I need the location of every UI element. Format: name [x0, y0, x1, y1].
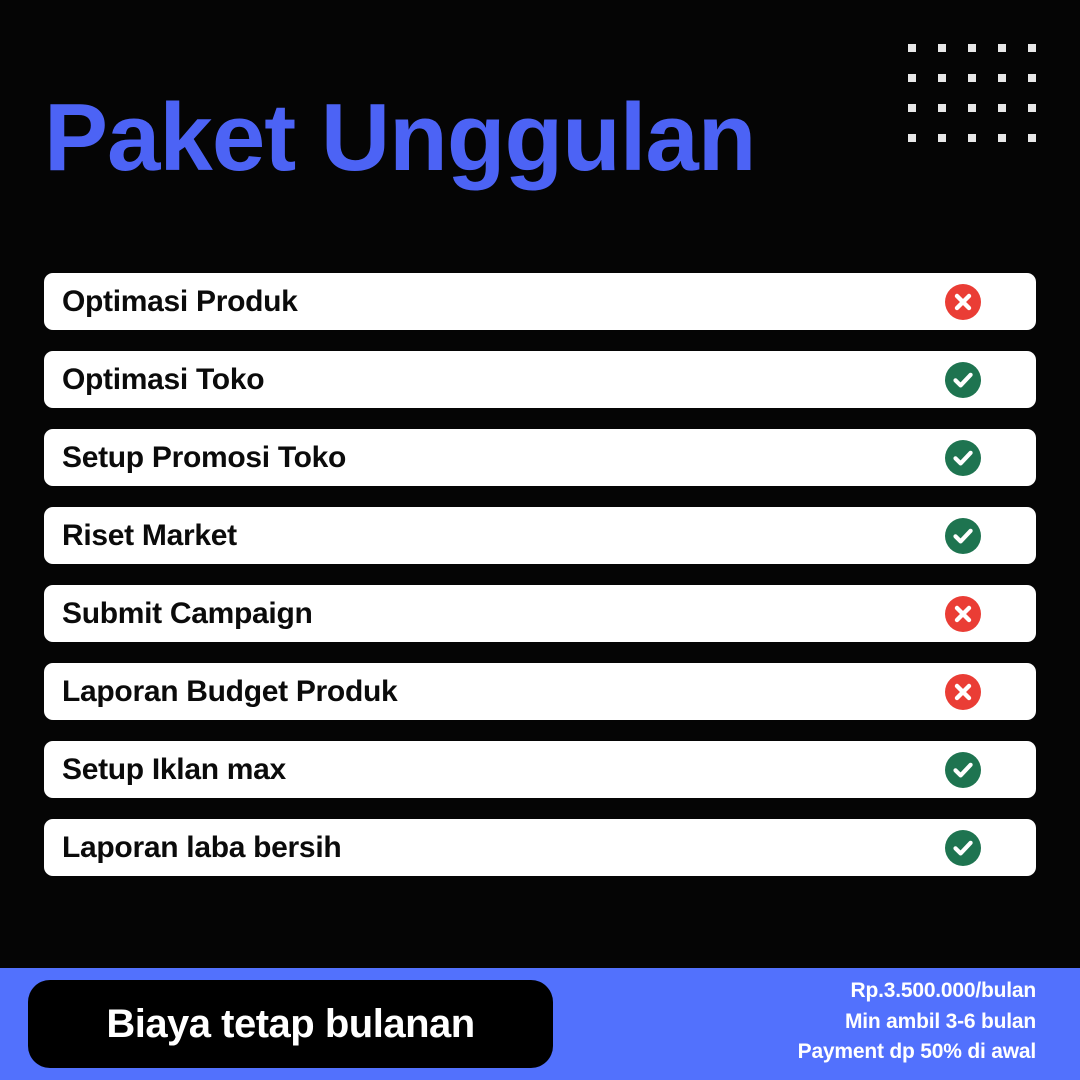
feature-status: [945, 674, 981, 710]
price-line: Rp.3.500.000/bulan: [851, 979, 1036, 1003]
decor-dot: [998, 134, 1006, 142]
circle-check-icon: [945, 440, 981, 476]
circle-x-icon: [945, 596, 981, 632]
decor-dot: [1028, 74, 1036, 82]
feature-row: Setup Promosi Toko: [44, 429, 1036, 486]
feature-status: [945, 518, 981, 554]
feature-status: [945, 830, 981, 866]
feature-label: Optimasi Produk: [62, 287, 298, 317]
decor-dot: [1028, 134, 1036, 142]
decor-dot: [908, 44, 916, 52]
circle-check-icon: [945, 830, 981, 866]
decor-dot: [908, 104, 916, 112]
feature-list: Optimasi ProdukOptimasi TokoSetup Promos…: [44, 273, 1036, 876]
decor-dot: [968, 134, 976, 142]
pricing-poster: Paket Unggulan Optimasi ProdukOptimasi T…: [0, 0, 1080, 1080]
feature-label: Setup Iklan max: [62, 755, 286, 785]
decor-dot: [1028, 104, 1036, 112]
decor-dot: [968, 44, 976, 52]
circle-check-icon: [945, 362, 981, 398]
feature-label: Setup Promosi Toko: [62, 443, 346, 473]
feature-label: Laporan Budget Produk: [62, 677, 397, 707]
decor-dot: [968, 74, 976, 82]
decor-dot: [998, 44, 1006, 52]
monthly-fee-pill: Biaya tetap bulanan: [28, 980, 553, 1068]
decorative-dot-grid: [908, 44, 1036, 142]
circle-x-icon: [945, 674, 981, 710]
price-details: Rp.3.500.000/bulanMin ambil 3-6 bulanPay…: [616, 979, 1036, 1064]
circle-x-icon: [945, 284, 981, 320]
decor-dot: [998, 74, 1006, 82]
page-title: Paket Unggulan: [44, 88, 755, 189]
circle-check-icon: [945, 518, 981, 554]
feature-row: Optimasi Toko: [44, 351, 1036, 408]
decor-dot: [938, 134, 946, 142]
decor-dot: [908, 74, 916, 82]
feature-label: Optimasi Toko: [62, 365, 264, 395]
feature-status: [945, 362, 981, 398]
feature-row: Riset Market: [44, 507, 1036, 564]
decor-dot: [968, 104, 976, 112]
monthly-fee-label: Biaya tetap bulanan: [106, 1004, 474, 1044]
feature-row: Laporan laba bersih: [44, 819, 1036, 876]
price-line: Min ambil 3-6 bulan: [845, 1010, 1036, 1034]
circle-check-icon: [945, 752, 981, 788]
decor-dot: [1028, 44, 1036, 52]
decor-dot: [938, 74, 946, 82]
decor-dot: [938, 104, 946, 112]
feature-status: [945, 596, 981, 632]
decor-dot: [908, 134, 916, 142]
feature-status: [945, 284, 981, 320]
footer-bar: Biaya tetap bulanan Rp.3.500.000/bulanMi…: [0, 968, 1080, 1080]
feature-label: Riset Market: [62, 521, 237, 551]
feature-label: Submit Campaign: [62, 599, 313, 629]
feature-label: Laporan laba bersih: [62, 833, 341, 863]
feature-row: Submit Campaign: [44, 585, 1036, 642]
feature-row: Optimasi Produk: [44, 273, 1036, 330]
feature-status: [945, 440, 981, 476]
price-line: Payment dp 50% di awal: [798, 1040, 1036, 1064]
feature-row: Laporan Budget Produk: [44, 663, 1036, 720]
feature-row: Setup Iklan max: [44, 741, 1036, 798]
feature-status: [945, 752, 981, 788]
decor-dot: [938, 44, 946, 52]
decor-dot: [998, 104, 1006, 112]
